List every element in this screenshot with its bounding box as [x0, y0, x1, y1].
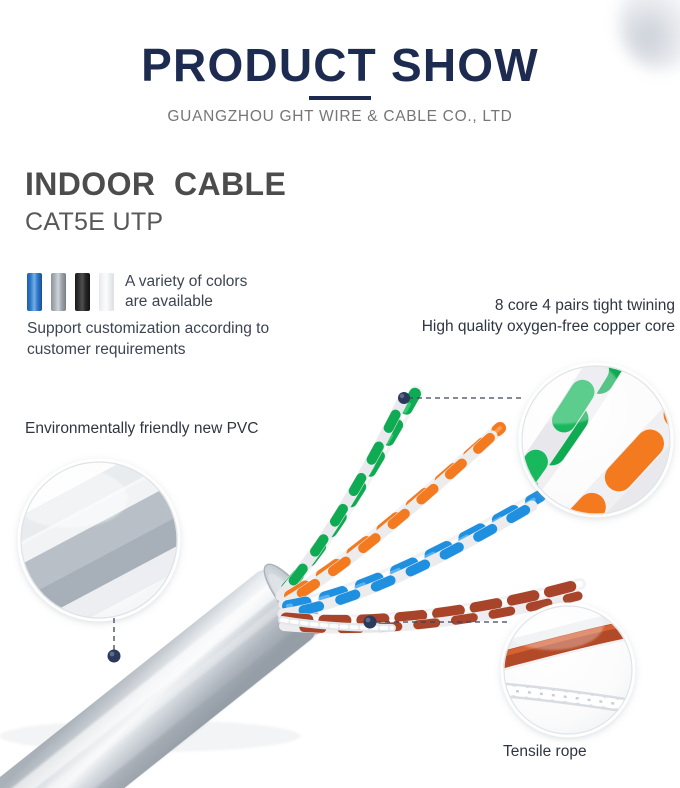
color-options-block: A variety of colors are available Suppor…	[27, 272, 269, 360]
color-swatch-blue	[27, 273, 42, 311]
color-swatch-black	[75, 273, 90, 311]
callout-tensile-rope: Tensile rope	[503, 742, 587, 763]
customization-note: Support customization according to custo…	[27, 319, 269, 360]
company-name: GUANGZHOU GHT WIRE & CABLE CO., LTD	[0, 108, 680, 126]
callout-core-spec-line2: High quality oxygen-free copper core	[355, 317, 675, 338]
color-caption: A variety of colors are available	[125, 272, 247, 313]
callout-core-spec-line1: 8 core 4 pairs tight twining	[355, 296, 675, 317]
inset-rope-closeup	[494, 598, 646, 736]
callout-pvc: Environmentally friendly new PVC	[25, 419, 258, 440]
inset-pvc-closeup	[0, 432, 236, 648]
color-caption-line1: A variety of colors	[125, 272, 247, 292]
leader-line-pvc	[108, 618, 121, 663]
customization-note-line2: customer requirements	[27, 340, 269, 361]
color-swatch-list	[27, 272, 114, 311]
product-title-block: INDOOR CABLE CAT5E UTP	[25, 167, 286, 236]
inset-pairs-closeup	[483, 356, 680, 572]
color-caption-line2: are available	[125, 292, 247, 312]
poster-header: PRODUCT SHOW GUANGZHOU GHT WIRE & CABLE …	[0, 0, 680, 126]
color-swatch-white	[99, 273, 114, 311]
product-name: INDOOR CABLE	[25, 167, 286, 202]
title-underline	[309, 96, 371, 100]
page-title: PRODUCT SHOW	[0, 42, 680, 90]
poster-canvas: PRODUCT SHOW GUANGZHOU GHT WIRE & CABLE …	[0, 0, 680, 788]
product-model: CAT5E UTP	[25, 209, 286, 237]
callout-core-spec: 8 core 4 pairs tight twining High qualit…	[355, 296, 675, 337]
customization-note-line1: Support customization according to	[27, 319, 269, 340]
color-swatch-gray	[51, 273, 66, 311]
